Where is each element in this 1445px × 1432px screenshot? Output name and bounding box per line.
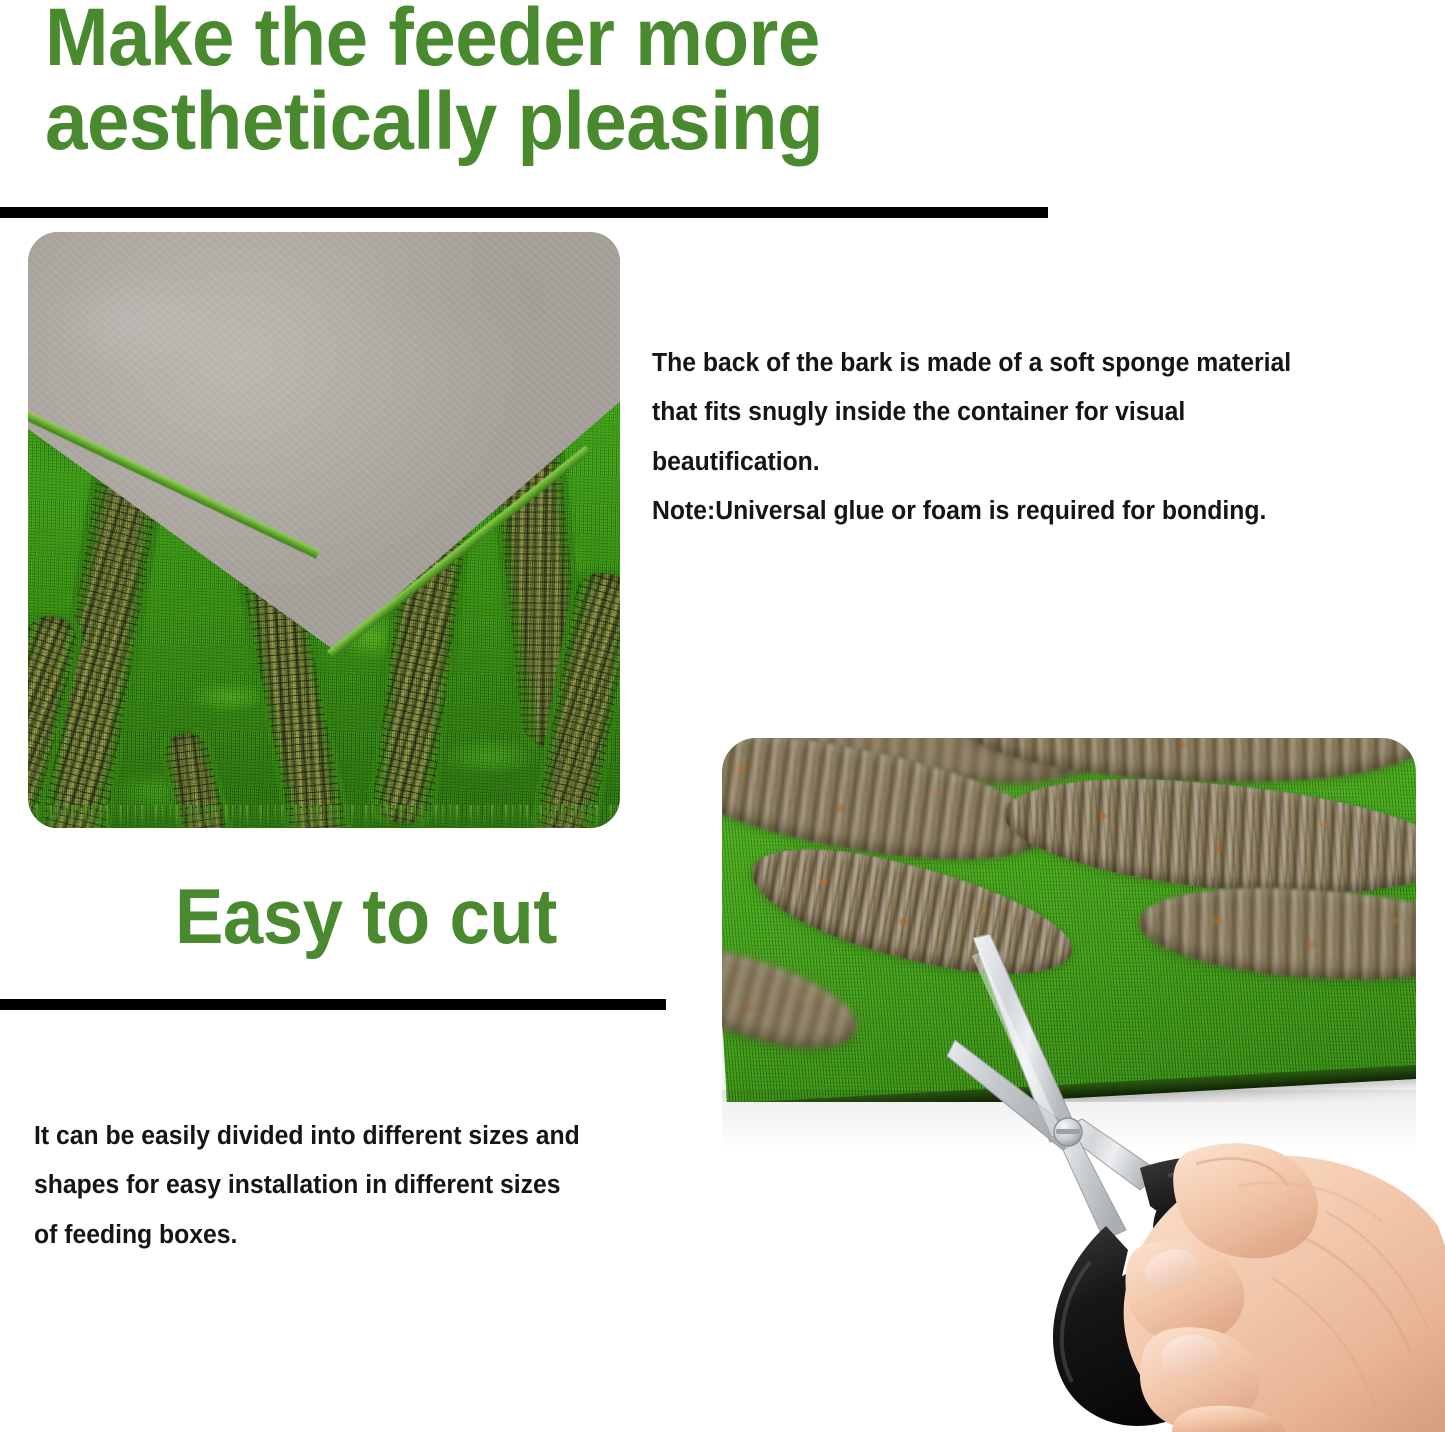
white-backdrop — [722, 1102, 1416, 1432]
section-divider-mid — [0, 999, 666, 1010]
mat-shadow — [722, 1090, 1416, 1150]
moss-fringe-bottom — [28, 805, 620, 828]
product-image-sponge-backing — [28, 232, 620, 828]
product-image-cutting — [722, 738, 1416, 1432]
description-easy-to-cut: It can be easily divided into different … — [34, 1112, 713, 1260]
moss-mat-icon — [722, 738, 1416, 1117]
page-title-aesthetics: Make the feeder more aesthetically pleas… — [45, 0, 1068, 163]
section-divider-top — [0, 207, 1048, 218]
description-sponge-backing: The back of the bark is made of a soft s… — [652, 339, 1428, 537]
